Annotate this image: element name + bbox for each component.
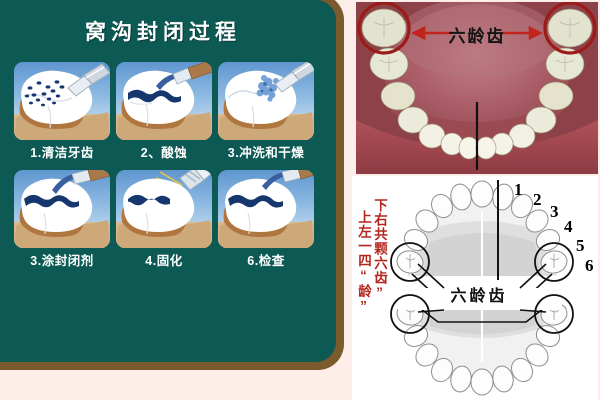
full-dental-arch-diagram-icon: 六龄齿 下右共颗六齿” 上左一四“龄” 1 2 3 4 5 6 xyxy=(352,176,600,400)
poster-canvas: 窝沟封闭过程 xyxy=(0,0,600,400)
arch-number-3: 3 xyxy=(550,202,559,222)
tooth-inspection-probe-icon xyxy=(218,170,314,248)
tooth-curing-light-icon xyxy=(116,170,212,248)
step-card-1[interactable]: 1.清洁牙齿 xyxy=(14,62,110,166)
page-title: 窝沟封闭过程 xyxy=(0,16,326,46)
arch-number-4: 4 xyxy=(564,217,573,237)
board-inner-surface: 窝沟封闭过程 xyxy=(0,0,336,362)
sealant-process-board: 窝沟封闭过程 xyxy=(0,0,344,370)
step-card-3[interactable]: 3.冲洗和干燥 xyxy=(218,62,314,166)
arch-vertical-text-right: 下右共颗六齿” xyxy=(372,198,387,301)
tooth-sealant-applicator-icon xyxy=(14,170,110,248)
arch-vertical-text-left: 上左一四“龄” xyxy=(356,210,371,315)
step-caption: 3.冲洗和干燥 xyxy=(218,142,314,161)
step-card-5[interactable]: 4.固化 xyxy=(116,170,212,274)
step-caption: 3.涂封闭剂 xyxy=(14,250,110,269)
tooth-rinse-spray-icon xyxy=(218,62,314,140)
arch-callout-label: 六龄齿 xyxy=(404,282,554,306)
step-card-2[interactable]: 2、酸蚀 xyxy=(116,62,212,166)
step-caption: 2、酸蚀 xyxy=(116,142,212,161)
lower-dental-arch-photo-icon: 六龄齿 xyxy=(356,2,598,174)
step-caption: 1.清洁牙齿 xyxy=(14,142,110,161)
step-card-6[interactable]: 6.检查 xyxy=(218,170,314,274)
arch-number-1: 1 xyxy=(514,180,523,200)
step-card-4[interactable]: 3.涂封闭剂 xyxy=(14,170,110,274)
step-caption: 4.固化 xyxy=(116,250,212,269)
arch-number-2: 2 xyxy=(533,190,542,210)
step-caption: 6.检查 xyxy=(218,250,314,269)
tooth-cleaning-polisher-icon xyxy=(14,62,110,140)
tooth-acid-etch-probe-icon xyxy=(116,62,212,140)
arch-number-5: 5 xyxy=(576,236,585,256)
steps-grid: 1.清洁牙齿 xyxy=(14,62,314,274)
arch-number-6: 6 xyxy=(585,256,594,276)
